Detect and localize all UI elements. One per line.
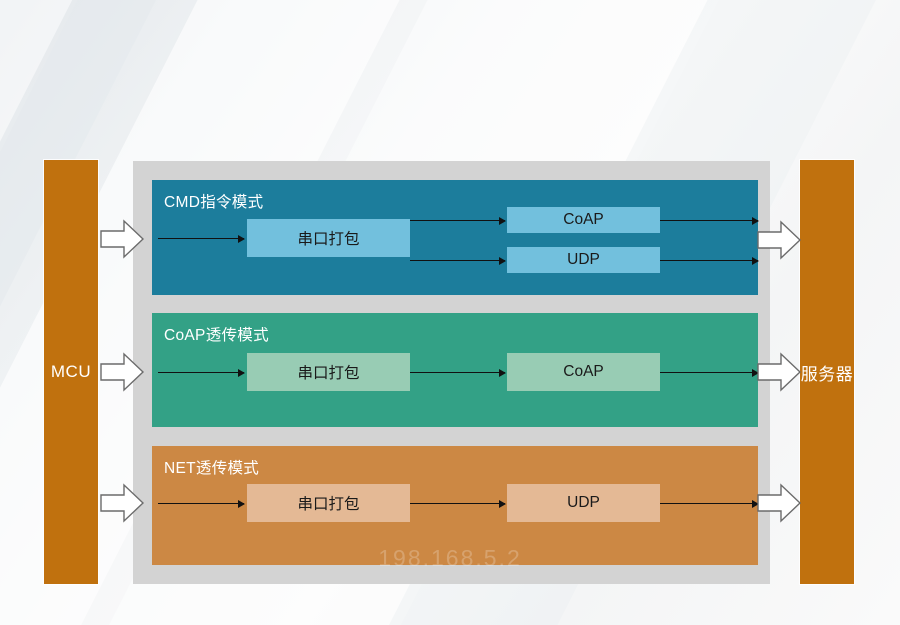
block-coap-coap: CoAP bbox=[507, 353, 660, 391]
block-label: 串口打包 bbox=[297, 492, 359, 514]
mode-title-coap: CoAP透传模式 bbox=[164, 323, 269, 345]
connector-net-out bbox=[660, 503, 758, 504]
block-label: UDP bbox=[567, 494, 600, 512]
mode-title-cmd: CMD指令模式 bbox=[164, 190, 263, 212]
connector-cmd-udp-out bbox=[660, 260, 758, 261]
connector-cmd-pack-to-udp bbox=[410, 260, 505, 261]
block-net-udp: UDP bbox=[507, 484, 660, 522]
block-label: UDP bbox=[567, 251, 600, 269]
block-label: CoAP bbox=[563, 211, 604, 229]
block-net-serial-pack: 串口打包 bbox=[247, 484, 410, 522]
connector-cmd-pack-to-coap bbox=[410, 220, 505, 221]
block-cmd-coap: CoAP bbox=[507, 207, 660, 233]
flow-arrow-in-net-icon bbox=[100, 483, 144, 523]
flow-arrow-out-cmd-icon bbox=[757, 220, 801, 260]
connector-coap-pack-to-coap bbox=[410, 372, 505, 373]
block-cmd-serial-pack: 串口打包 bbox=[247, 219, 410, 257]
mode-section-net: NET透传模式 串口打包 UDP bbox=[152, 446, 758, 565]
flow-arrow-in-coap-icon bbox=[100, 352, 144, 392]
endpoint-mcu-label: MCU bbox=[51, 362, 91, 382]
mode-title-net: NET透传模式 bbox=[164, 456, 259, 478]
connector-cmd-coap-out bbox=[660, 220, 758, 221]
block-coap-serial-pack: 串口打包 bbox=[247, 353, 410, 391]
endpoint-mcu: MCU bbox=[44, 160, 98, 584]
flow-arrow-out-net-icon bbox=[757, 483, 801, 523]
flow-arrow-in-cmd-icon bbox=[100, 219, 144, 259]
connector-cmd-in bbox=[158, 238, 244, 239]
block-label: 串口打包 bbox=[297, 361, 359, 383]
mode-section-cmd: CMD指令模式 串口打包 CoAP UDP bbox=[152, 180, 758, 295]
connector-net-pack-to-udp bbox=[410, 503, 505, 504]
diagram-canvas: MCU 服务器 CMD指令模式 串口打包 CoAP UDP CoAP透传模式 串… bbox=[0, 0, 900, 625]
block-label: 串口打包 bbox=[297, 227, 359, 249]
connector-coap-out bbox=[660, 372, 758, 373]
endpoint-server-label: 服务器 bbox=[801, 360, 854, 385]
connector-net-in bbox=[158, 503, 244, 504]
block-label: CoAP bbox=[563, 363, 604, 381]
block-cmd-udp: UDP bbox=[507, 247, 660, 273]
mode-section-coap: CoAP透传模式 串口打包 CoAP bbox=[152, 313, 758, 427]
flow-arrow-out-coap-icon bbox=[757, 352, 801, 392]
endpoint-server: 服务器 bbox=[800, 160, 854, 584]
connector-coap-in bbox=[158, 372, 244, 373]
